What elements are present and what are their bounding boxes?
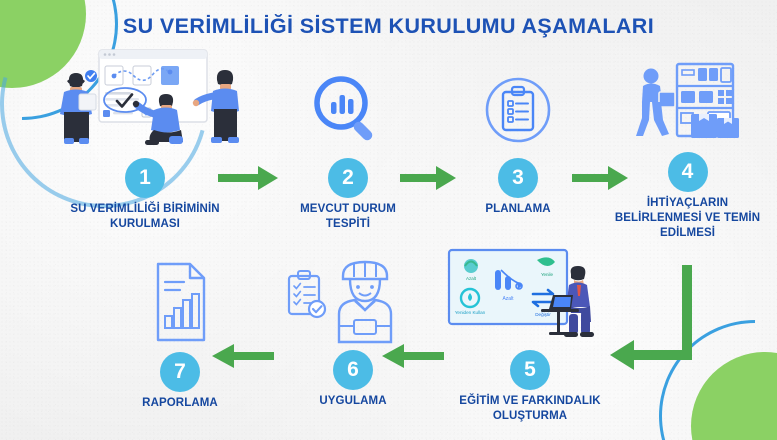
step-7-label-line-1: RAPORLAMA bbox=[105, 396, 255, 411]
step-2-illustration bbox=[278, 58, 418, 154]
arrow-3-to-4 bbox=[572, 164, 630, 192]
step-4-number: 4 bbox=[668, 152, 708, 192]
step-6-label-line-1: UYGULAMA bbox=[278, 394, 428, 409]
step-2-label: MEVCUT DURUM TESPİTİ bbox=[278, 202, 418, 232]
step-5-number: 5 bbox=[510, 350, 550, 390]
step-3-number: 3 bbox=[498, 158, 538, 198]
step-3-label-line-1: PLANLAMA bbox=[448, 202, 588, 217]
step-7-number: 7 bbox=[160, 352, 200, 392]
step-5-label-line-2: OLUŞTURMA bbox=[440, 409, 620, 424]
warehouse-supply-icon bbox=[633, 56, 743, 148]
magnifier-bar-chart-icon bbox=[306, 70, 390, 154]
report-document-chart-icon bbox=[140, 258, 220, 348]
worker-clipboard-icon bbox=[283, 254, 423, 346]
step-6-label: UYGULAMA bbox=[278, 394, 428, 409]
step-1-label: SU VERİMLİLİĞİ BİRİMİNİN KURULMASI bbox=[40, 202, 250, 232]
step-2-label-line-2: TESPİTİ bbox=[278, 217, 418, 232]
step-4-label-line-1: İHTİYAÇLARIN bbox=[600, 196, 775, 211]
step-1-number: 1 bbox=[125, 158, 165, 198]
step-6-illustration bbox=[278, 250, 428, 346]
step-1-label-line-1: SU VERİMLİLİĞİ BİRİMİNİN bbox=[40, 202, 250, 217]
arrow-6-to-7 bbox=[212, 342, 274, 370]
arrow-2-to-3 bbox=[400, 164, 458, 192]
step-4-label: İHTİYAÇLARIN BELİRLENMESİ VE TEMİN EDİLM… bbox=[600, 196, 775, 241]
step-2-number: 2 bbox=[328, 158, 368, 198]
step-4: 4 İHTİYAÇLARIN BELİRLENMESİ VE TEMİN EDİ… bbox=[600, 52, 775, 241]
step-7-illustration bbox=[105, 252, 255, 348]
step-5-illustration: Azalt Yenile Azalt Yeniden Kullan Değişt… bbox=[440, 250, 620, 346]
screen-label-degistir: Değiştir bbox=[535, 312, 551, 317]
step-4-illustration bbox=[600, 52, 775, 148]
infographic-canvas: SU VERİMLİLİĞİ SİSTEM KURULUMU AŞAMALARI bbox=[0, 0, 777, 440]
step-1-illustration bbox=[40, 58, 250, 154]
clipboard-checklist-icon bbox=[476, 70, 560, 154]
step-6-number: 6 bbox=[333, 350, 373, 390]
step-1: 1 SU VERİMLİLİĞİ BİRİMİNİN KURULMASI bbox=[40, 58, 250, 232]
step-2: 2 MEVCUT DURUM TESPİTİ bbox=[278, 58, 418, 232]
step-5-label: EĞİTİM VE FARKINDALIK OLUŞTURMA bbox=[440, 394, 620, 424]
step-2-label-line-1: MEVCUT DURUM bbox=[278, 202, 418, 217]
screen-label-azalt: Azalt bbox=[502, 296, 514, 302]
svg-text:Azalt: Azalt bbox=[465, 276, 476, 281]
step-5-label-line-1: EĞİTİM VE FARKINDALIK bbox=[440, 394, 620, 409]
step-3-illustration bbox=[448, 58, 588, 154]
step-7-label: RAPORLAMA bbox=[105, 396, 255, 411]
step-6: 6 UYGULAMA bbox=[278, 250, 428, 409]
arrow-4-to-5 bbox=[600, 265, 710, 370]
step-5: Azalt Yenile Azalt Yeniden Kullan Değişt… bbox=[440, 250, 620, 424]
page-title: SU VERİMLİLİĞİ SİSTEM KURULUMU AŞAMALARI bbox=[0, 14, 777, 39]
screen-label-yeniden-kullan: Yeniden Kullan bbox=[454, 310, 485, 315]
step-4-label-line-2: BELİRLENMESİ VE TEMİN bbox=[600, 211, 775, 226]
step-4-label-line-3: EDİLMESİ bbox=[600, 226, 775, 241]
step-3: 3 PLANLAMA bbox=[448, 58, 588, 217]
svg-text:Yenile: Yenile bbox=[540, 272, 553, 277]
step-7: 7 RAPORLAMA bbox=[105, 252, 255, 411]
arrow-1-to-2 bbox=[218, 164, 280, 192]
step-3-label: PLANLAMA bbox=[448, 202, 588, 217]
arrow-5-to-6 bbox=[382, 342, 444, 370]
step-1-label-line-2: KURULMASI bbox=[40, 217, 250, 232]
